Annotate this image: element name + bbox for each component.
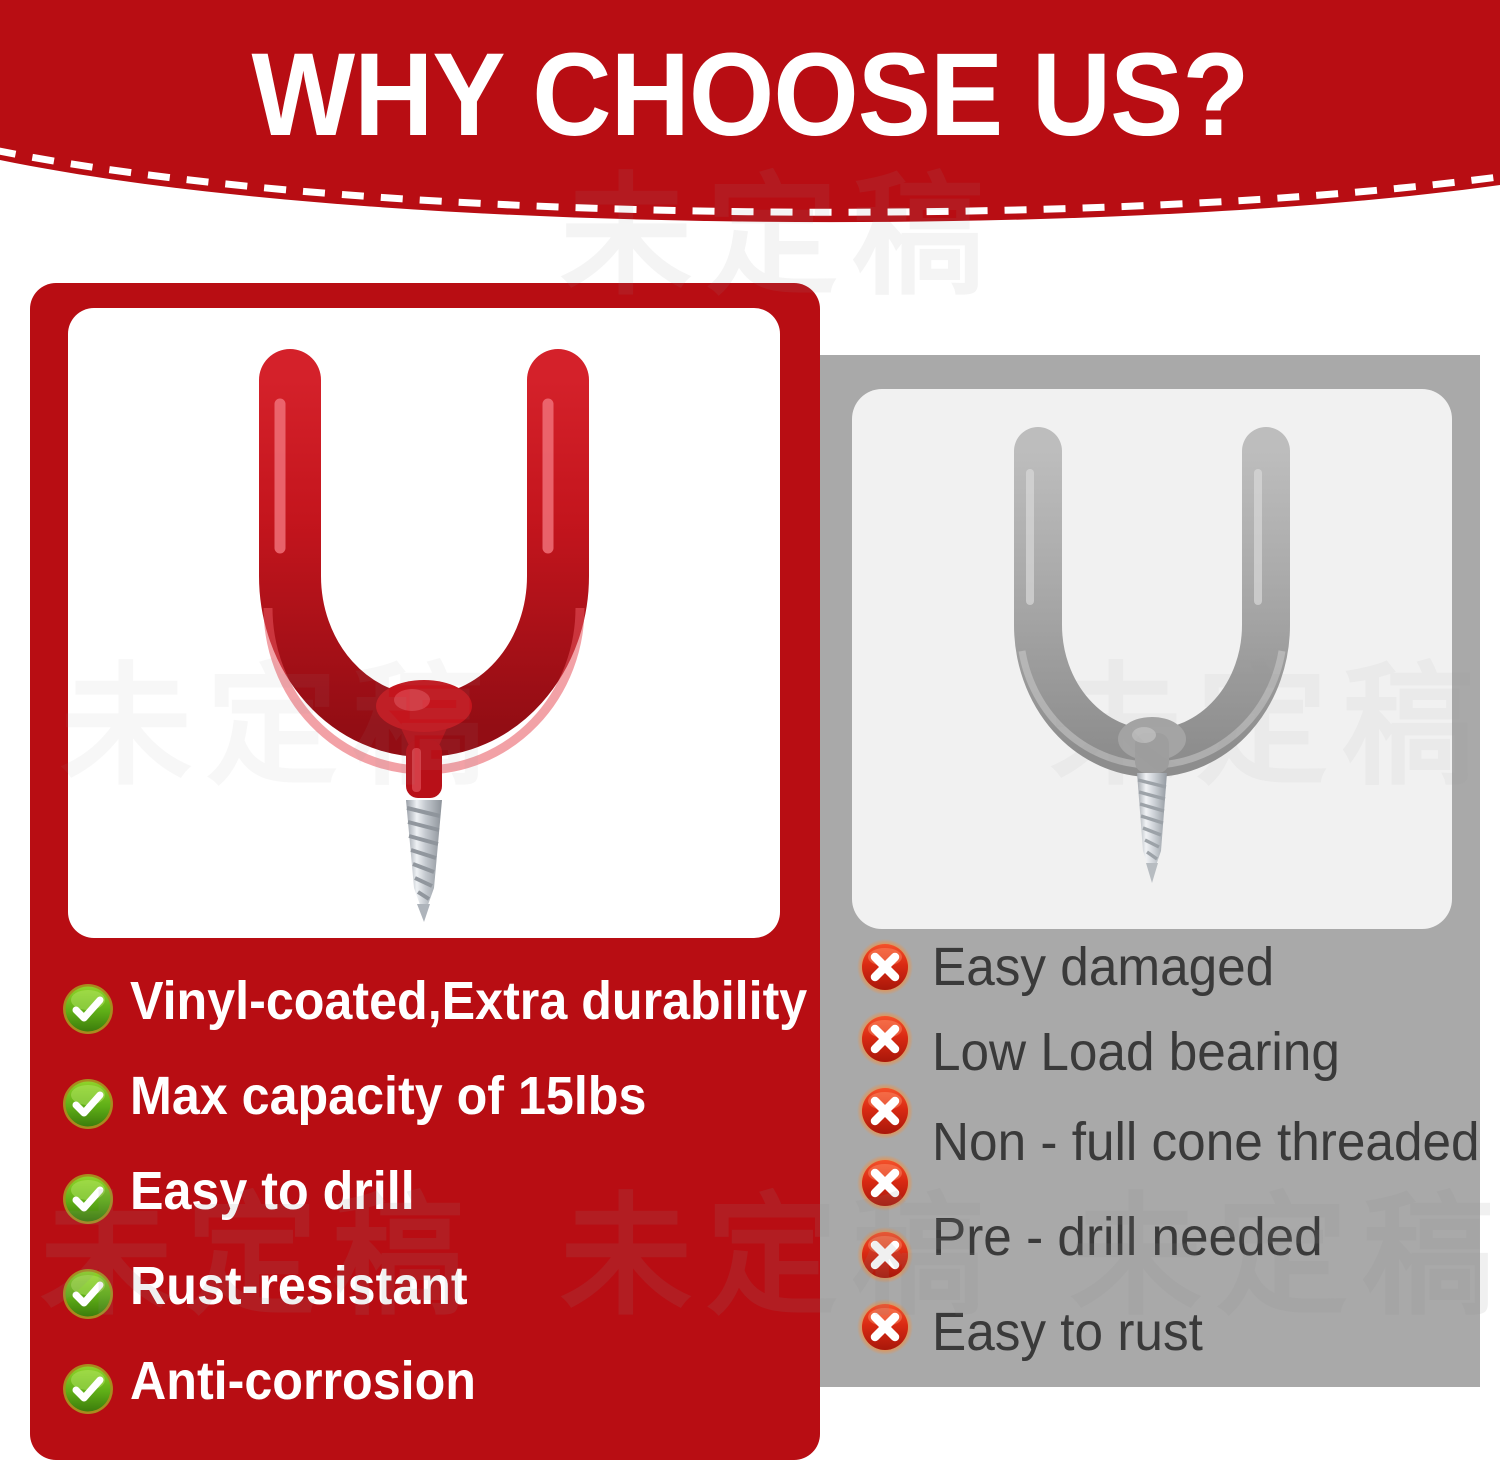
check-icon [62,1173,114,1225]
cross-icon [856,1082,914,1140]
list-item-label: Anti-corrosion [130,1353,476,1410]
list-item: Easy to drill [62,1163,802,1258]
list-item: Vinyl-coated,Extra durability [62,973,802,1068]
list-item-label: Easy to drill [130,1163,415,1220]
red-u-hook-icon [68,308,780,938]
red-hook-image [68,308,780,938]
list-item-label: Easy to rust [932,1305,1203,1359]
cross-icon [856,1298,914,1356]
list-item: Anti-corrosion [62,1353,802,1448]
bad-drawback-list: Easy damaged Low Load bearing Non - full… [820,355,1480,1387]
list-item-label: Low Load bearing [932,1025,1340,1079]
check-icon [62,1078,114,1130]
good-feature-list: Vinyl-coated,Extra durability Max capaci… [62,973,802,1448]
list-item-label: Non - full cone threaded [932,1115,1480,1169]
list-item-label: Vinyl-coated,Extra durability [130,973,807,1030]
cross-icon [856,1154,914,1212]
cross-icon [856,1010,914,1068]
bad-product-panel: Easy damaged Low Load bearing Non - full… [820,355,1480,1387]
list-item: Rust-resistant [62,1258,802,1353]
list-item-label: Easy damaged [932,940,1274,994]
check-icon [62,983,114,1035]
list-item-label: Max capacity of 15lbs [130,1068,646,1125]
list-item-label: Pre - drill needed [932,1210,1323,1264]
good-product-panel: Vinyl-coated,Extra durability Max capaci… [30,283,820,1460]
check-icon [62,1363,114,1415]
good-product-image-card [68,308,780,938]
check-icon [62,1268,114,1320]
list-item: Max capacity of 15lbs [62,1068,802,1163]
page-title: WHY CHOOSE US? [53,34,1448,158]
cross-icon [856,1226,914,1284]
header-banner: WHY CHOOSE US? [0,0,1500,250]
cross-icon [856,938,914,996]
list-item-label: Rust-resistant [130,1258,468,1315]
